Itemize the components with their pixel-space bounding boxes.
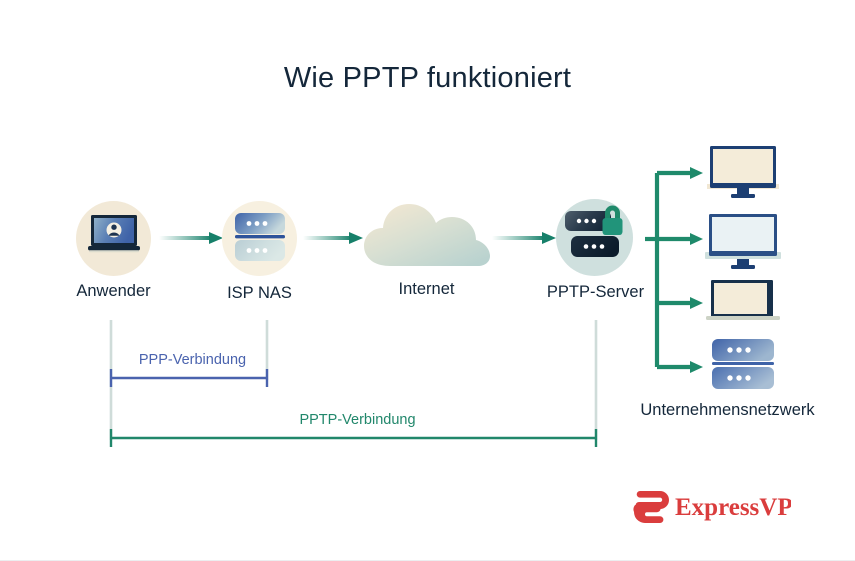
arrow-right-icon: [492, 231, 558, 245]
connection-brackets: [100, 318, 610, 448]
monitor-icon: [707, 146, 779, 201]
server-stack-icon: [233, 210, 287, 266]
laptop-user-icon: [88, 213, 140, 257]
server-lock-icon: [563, 203, 629, 265]
arrow-right-icon: [159, 231, 225, 245]
diagram-canvas: Wie PPTP funktioniert: [0, 0, 855, 560]
server-stack-icon: [712, 338, 774, 392]
monitor-icon: [705, 214, 781, 272]
corporate-network-label: Unternehmensnetzwerk: [600, 401, 855, 420]
pptp-connection-label: PPTP-Verbindung: [215, 412, 500, 428]
ppp-connection-label: PPP-Verbindung: [120, 352, 265, 368]
laptop-icon: [706, 280, 780, 322]
node-label-internet: Internet: [345, 280, 508, 299]
node-label-isp-nas: ISP NAS: [178, 284, 341, 303]
expressvpn-mark: [633, 491, 669, 523]
node-label-user: Anwender: [32, 282, 195, 301]
arrow-right-icon: [303, 231, 365, 245]
expressvpn-logo: ExpressVPN: [631, 486, 791, 528]
cloud-icon: [360, 196, 494, 268]
expressvpn-wordmark: ExpressVPN: [675, 494, 791, 521]
page-title: Wie PPTP funktioniert: [0, 62, 855, 95]
